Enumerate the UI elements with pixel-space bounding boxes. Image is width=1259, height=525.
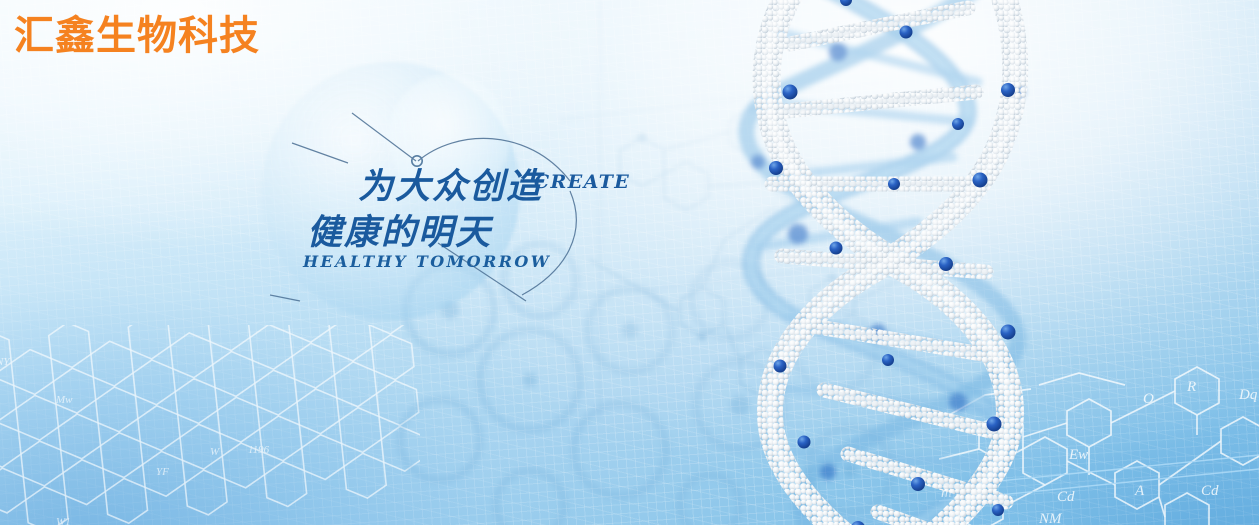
- biotech-banner: NYMwb3 W1YFW 1196WW: [0, 0, 1259, 525]
- slogan-line2-english: HEALTHY TOMORROW: [303, 252, 551, 271]
- slogan-line1-english: CREATE: [534, 171, 630, 193]
- company-logo[interactable]: 汇鑫生物科技: [14, 14, 260, 59]
- dna-helix-graphic: [718, 0, 1088, 525]
- slogan-line1-chinese: 为大众创造: [358, 158, 543, 209]
- dna-helix-foreground-strand: [718, 0, 1088, 525]
- slogan-line2-chinese: 健康的明天: [307, 204, 492, 255]
